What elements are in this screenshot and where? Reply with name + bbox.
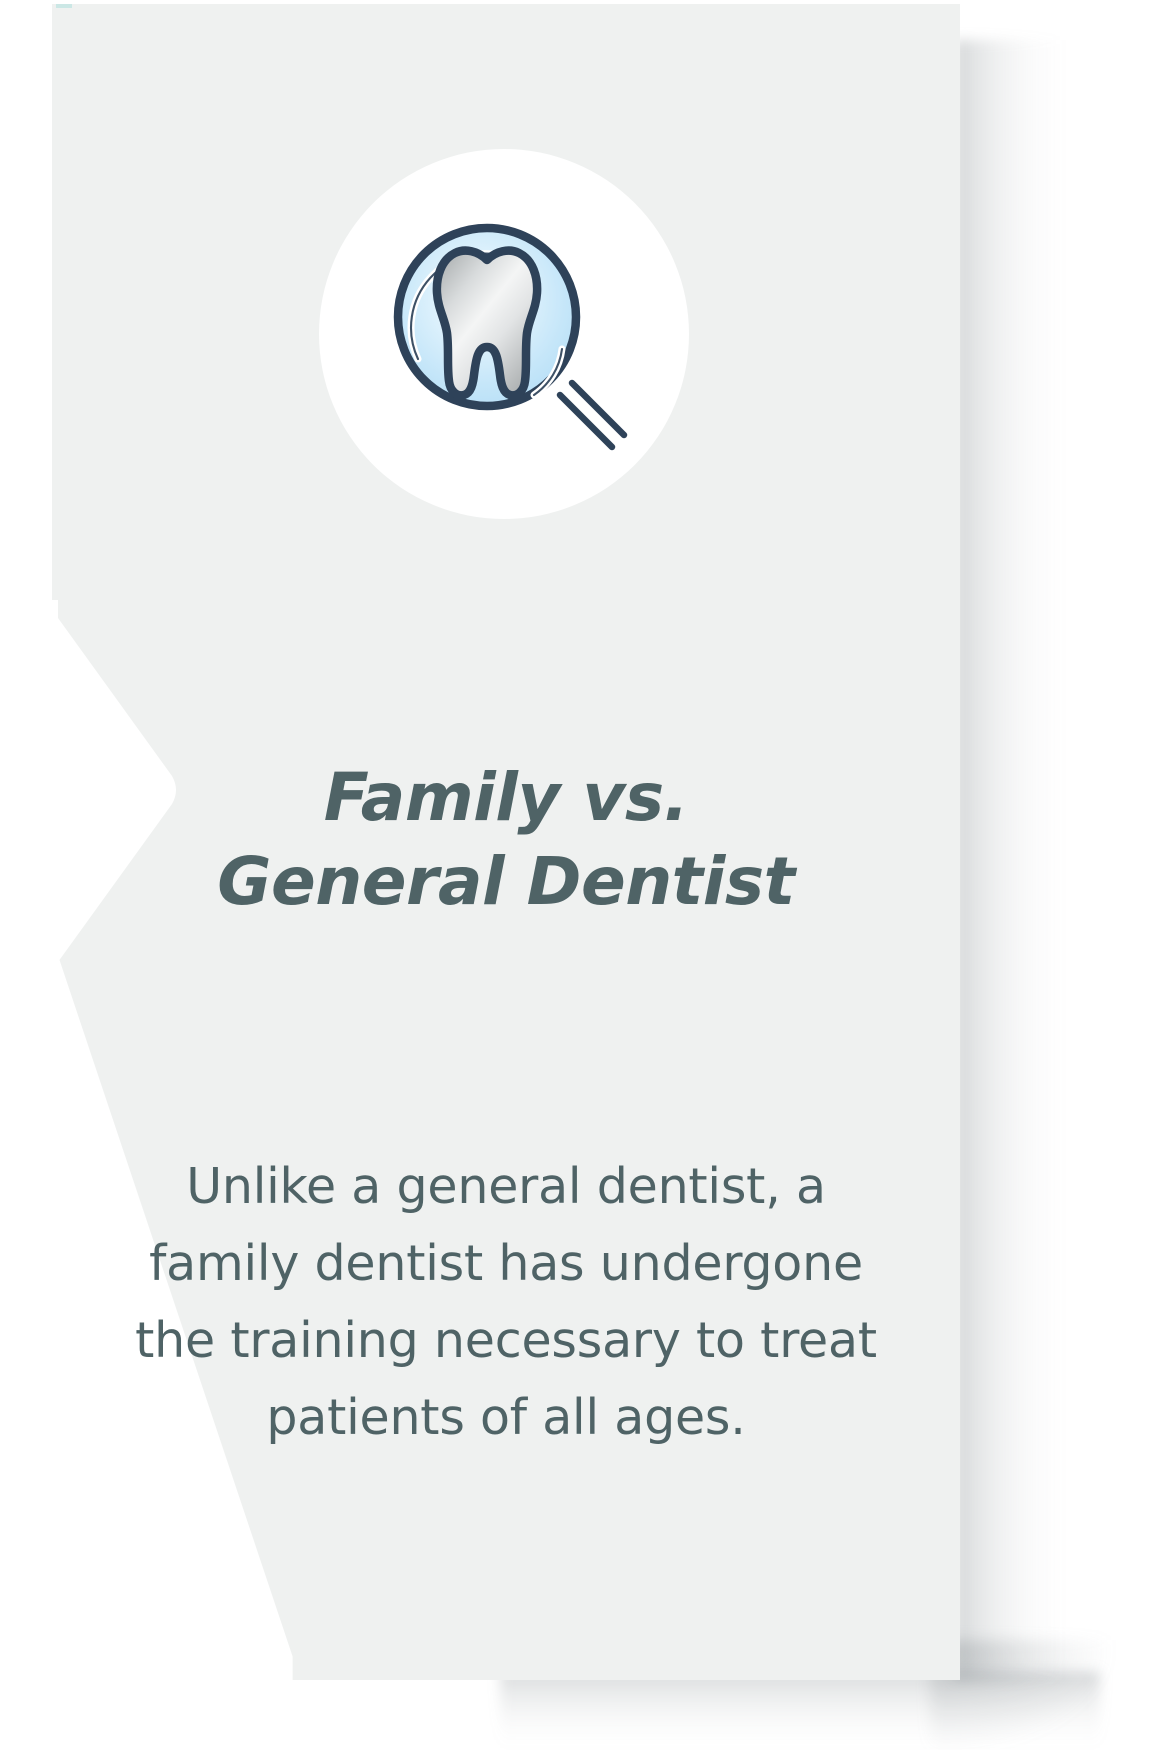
icon-badge [319, 149, 689, 519]
page-title: Family vs. General Dentist [52, 756, 960, 924]
description-line-1: Unlike a general dentist, a [92, 1148, 920, 1225]
card-shadow-right [955, 40, 1065, 1680]
card-top-accent-bar [56, 4, 72, 8]
magnifying-glass-tooth-icon [379, 209, 629, 459]
page-background: Family vs. General Dentist Unlike a gene… [0, 0, 1152, 1749]
description-line-3: the training necessary to treat [92, 1302, 920, 1379]
page-title-line-1: Family vs. [52, 756, 960, 840]
description-text: Unlike a general dentist, a family denti… [92, 1148, 920, 1456]
description-line-4: patients of all ages. [92, 1379, 920, 1456]
description-line-2: family dentist has undergone [92, 1225, 920, 1302]
page-title-line-2: General Dentist [52, 840, 960, 924]
